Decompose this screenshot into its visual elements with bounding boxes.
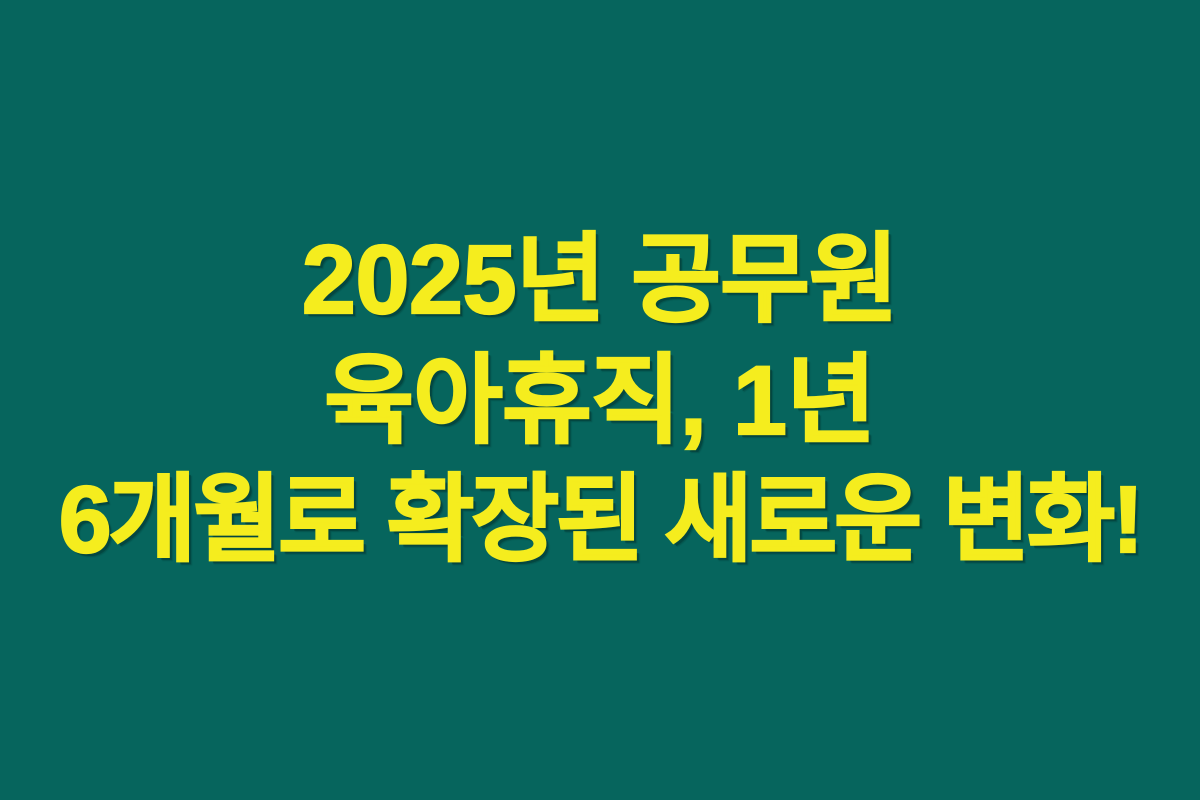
headline-line-2: 육아휴직, 1년 — [0, 345, 1200, 458]
headline-line-3: 6개월로 확장된 새로운 변화! — [0, 465, 1200, 575]
banner-headline: 2025년 공무원 육아휴직, 1년 6개월로 확장된 새로운 변화! — [0, 224, 1200, 575]
headline-line-1: 2025년 공무원 — [0, 224, 1200, 337]
promo-banner: 2025년 공무원 육아휴직, 1년 6개월로 확장된 새로운 변화! — [0, 0, 1200, 800]
